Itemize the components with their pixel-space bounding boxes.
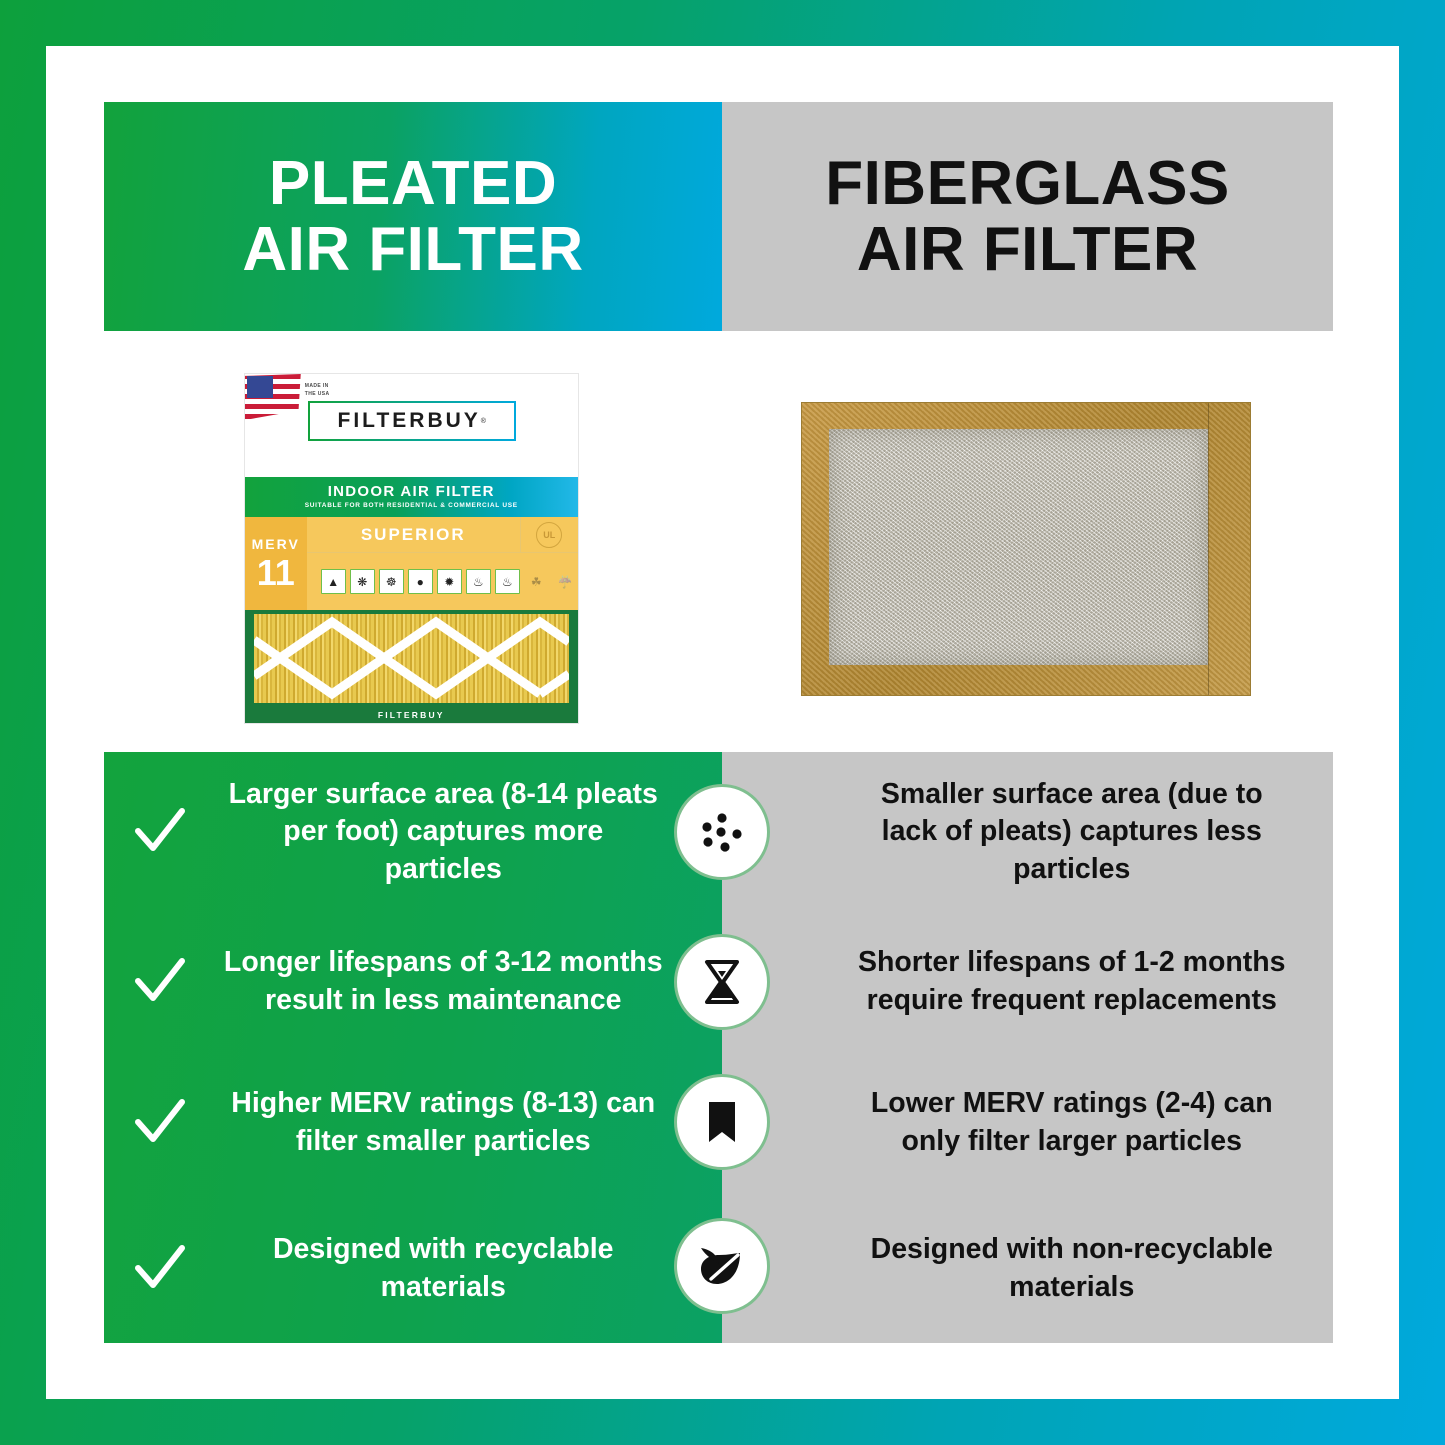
filterbuy-wordmark: FILTERBUY <box>338 409 481 433</box>
comparison-section: Larger surface area (8-14 pleats per foo… <box>104 752 1333 1343</box>
product-images-band: MADE IN THE USA FILTERBUY® INDOOR AIR FI… <box>104 346 1333 751</box>
row-left-text: Designed with recyclable materials <box>216 1231 691 1306</box>
box-spec-section: MERV 11 SUPERIOR UL ▲ <box>245 517 578 610</box>
checkmark-icon <box>104 954 216 1010</box>
checkmark-icon <box>104 1241 216 1297</box>
dust-icon: ▲ <box>321 569 346 594</box>
merv-label: MERV <box>252 537 300 551</box>
pet-dander-icon: ♨ <box>466 569 491 594</box>
row-left-text: Longer lifespans of 3-12 months result i… <box>216 944 691 1019</box>
row-right-text: Smaller surface area (due to lack of ple… <box>827 776 1334 889</box>
odor-icon: ☘ <box>524 569 549 594</box>
particles-icon <box>674 784 770 880</box>
pleated-media-section: FILTERBUY <box>245 610 578 723</box>
box-top-section: MADE IN THE USA FILTERBUY® <box>245 374 578 477</box>
indoor-air-filter-band: INDOOR AIR FILTER SUITABLE FOR BOTH RESI… <box>245 477 578 517</box>
header-fiberglass: FIBERGLASS AIR FILTER <box>722 102 1333 331</box>
header-fiberglass-line1: FIBERGLASS <box>825 151 1230 217</box>
smoke-icon: ♨ <box>495 569 520 594</box>
feature-icons-row: ▲ ❋ ☸ ● ✹ ♨ ♨ ☘ ☔ <box>307 553 578 610</box>
hourglass-icon <box>674 934 770 1030</box>
row-right-text: Shorter lifespans of 1-2 months require … <box>827 944 1334 1019</box>
bacteria-icon: ❋ <box>350 569 375 594</box>
made-in-line1: MADE IN <box>305 383 330 391</box>
comparison-rows: Larger surface area (8-14 pleats per foo… <box>104 752 1333 1343</box>
header-pleated-line2: AIR FILTER <box>242 217 583 283</box>
usa-flag-icon <box>245 374 301 422</box>
row-right-text: Lower MERV ratings (2-4) can only filter… <box>827 1085 1334 1160</box>
filterbuy-logo: FILTERBUY® <box>308 401 516 441</box>
fiberglass-filter-image <box>802 403 1250 695</box>
checkmark-icon <box>104 1095 216 1151</box>
headers-band: PLEATED AIR FILTER FIBERGLASS AIR FILTER <box>104 102 1333 331</box>
certification-seal: UL <box>520 517 578 552</box>
header-pleated: PLEATED AIR FILTER <box>104 102 722 331</box>
fiberglass-product-cell <box>719 346 1334 751</box>
checkmark-icon <box>104 804 216 860</box>
infographic-container: PLEATED AIR FILTER FIBERGLASS AIR FILTER <box>0 0 1445 1445</box>
ul-seal-icon: UL <box>536 522 562 548</box>
header-fiberglass-line2: AIR FILTER <box>825 217 1230 283</box>
trademark-symbol: ® <box>481 418 486 425</box>
made-in-usa-text: MADE IN THE USA <box>305 383 330 398</box>
pollen-icon: ✹ <box>437 569 462 594</box>
virus-icon: ☸ <box>379 569 404 594</box>
band-subtitle: SUITABLE FOR BOTH RESIDENTIAL & COMMERCI… <box>245 502 578 509</box>
frame-seam <box>1208 403 1250 695</box>
support-lattice-icon <box>254 614 569 703</box>
row-left-text: Larger surface area (8-14 pleats per foo… <box>216 776 691 889</box>
box-spec-right: SUPERIOR UL ▲ ❋ ☸ ● ✹ <box>307 517 578 610</box>
merv-value: 11 <box>257 555 295 591</box>
row-left-text: Higher MERV ratings (8-13) can filter sm… <box>216 1085 691 1160</box>
bookmark-icon <box>674 1074 770 1170</box>
tier-label: SUPERIOR <box>307 517 520 552</box>
mold-icon: ● <box>408 569 433 594</box>
smog-icon: ☔ <box>553 569 578 594</box>
header-pleated-line1: PLEATED <box>242 151 583 217</box>
merv-badge: MERV 11 <box>245 517 307 610</box>
tier-row: SUPERIOR UL <box>307 517 578 553</box>
band-title: INDOOR AIR FILTER <box>245 483 578 500</box>
leaf-icon <box>674 1218 770 1314</box>
filterbuy-box-image: MADE IN THE USA FILTERBUY® INDOOR AIR FI… <box>245 374 578 723</box>
media-bottom-brand: FILTERBUY <box>245 710 578 720</box>
white-card: PLEATED AIR FILTER FIBERGLASS AIR FILTER <box>46 46 1399 1399</box>
pleated-product-cell: MADE IN THE USA FILTERBUY® INDOOR AIR FI… <box>104 346 719 751</box>
made-in-line2: THE USA <box>305 391 330 399</box>
fiberglass-media-texture <box>829 429 1208 665</box>
row-right-text: Designed with non-recyclable materials <box>827 1231 1334 1306</box>
